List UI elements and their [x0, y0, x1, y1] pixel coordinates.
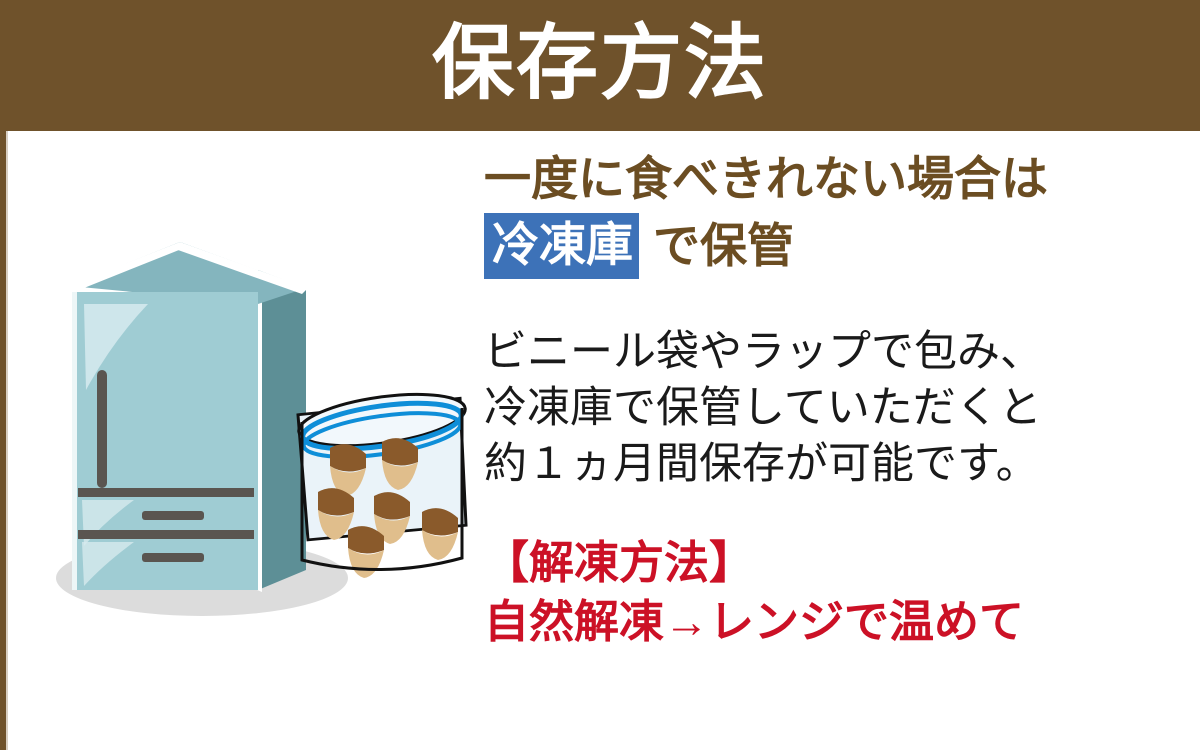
thaw-method: 自然解凍→レンジで温めて: [484, 593, 1184, 652]
headline-line-2: 冷凍庫 で保管: [484, 213, 1184, 278]
fridge-drawer-handle-2: [142, 553, 204, 562]
freezer-highlight-badge: 冷凍庫: [484, 213, 639, 278]
fridge-drawer-divider-2: [78, 530, 254, 539]
illustration-group: [30, 230, 470, 630]
header-banner: 保存方法: [0, 0, 1200, 131]
left-border-shade: [6, 131, 8, 750]
freezer-bag: [296, 386, 469, 578]
body-line-1: ビニール袋やラップで包み、: [484, 325, 1184, 381]
body-paragraph: ビニール袋やラップで包み、 冷凍庫で保管していただくと 約１ヵ月間保存が可能です…: [484, 325, 1184, 493]
thaw-instructions: 【解凍方法】 自然解凍→レンジで温めて: [484, 534, 1184, 651]
headline-line-1: 一度に食べきれない場合は: [484, 150, 1184, 207]
fridge-door-handle: [97, 370, 107, 488]
storage-method-infographic: 保存方法: [0, 0, 1200, 750]
headline-suffix: で保管: [653, 218, 794, 273]
fridge-drawer-handle-1: [142, 511, 204, 520]
body-line-2: 冷凍庫で保管していただくと: [484, 381, 1184, 437]
fridge-drawer-divider-1: [78, 488, 254, 497]
chestnut: [422, 508, 458, 560]
text-column: 一度に食べきれない場合は 冷凍庫 で保管 ビニール袋やラップで包み、 冷凍庫で保…: [484, 150, 1184, 651]
body-line-3: 約１ヵ月間保存が可能です。: [484, 437, 1184, 493]
page-title: 保存方法: [432, 23, 768, 105]
fridge-front-left-edge: [72, 292, 77, 590]
thaw-heading: 【解凍方法】: [484, 534, 1184, 593]
